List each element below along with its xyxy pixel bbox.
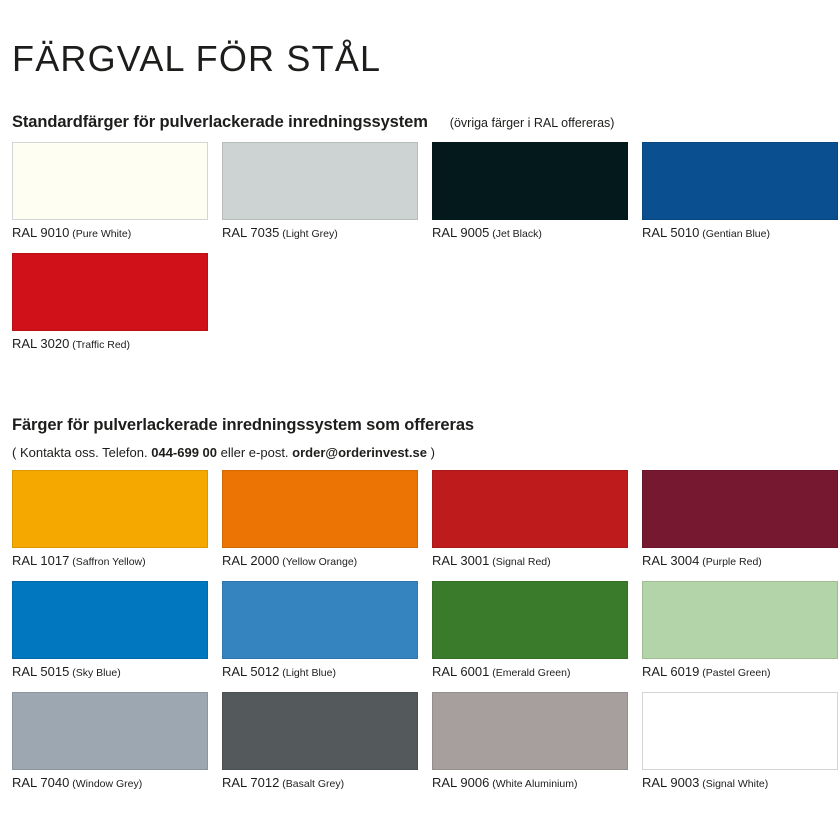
swatch-code: RAL 5012 [222,664,279,679]
swatch-code: RAL 7035 [222,225,279,240]
swatch-cell: RAL 9005 (Jet Black) [432,142,628,241]
section-offered-colors: Färger för pulverlackerade inredningssys… [12,416,828,803]
contact-middle: eller e-post. [217,445,292,460]
swatch-caption: RAL 6001 (Emerald Green) [432,664,628,680]
swatch-caption: RAL 7012 (Basalt Grey) [222,775,418,791]
color-swatch-ral-6019[interactable] [642,581,838,659]
section-offered-title: Färger för pulverlackerade inredningssys… [12,416,474,435]
swatch-cell: RAL 3020 (Traffic Red) [12,253,208,352]
swatch-caption: RAL 5010 (Gentian Blue) [642,225,838,241]
swatch-code: RAL 9005 [432,225,489,240]
swatch-cell: RAL 5015 (Sky Blue) [12,581,208,680]
swatch-name: (Pastel Green) [699,667,770,679]
swatch-name: (Purple Red) [699,556,761,568]
swatch-cell: RAL 1017 (Saffron Yellow) [12,470,208,569]
section-standard-title: Standardfärger för pulverlackerade inred… [12,113,428,132]
color-swatch-ral-5012[interactable] [222,581,418,659]
section-offered-header: Färger för pulverlackerade inredningssys… [12,416,828,435]
swatch-cell: RAL 9003 (Signal White) [642,692,838,791]
swatch-name: (Traffic Red) [69,339,130,351]
swatch-cell: RAL 3004 (Purple Red) [642,470,838,569]
swatch-cell: RAL 7040 (Window Grey) [12,692,208,791]
swatch-code: RAL 9003 [642,775,699,790]
swatch-cell: RAL 6001 (Emerald Green) [432,581,628,680]
offered-swatch-grid: RAL 1017 (Saffron Yellow)RAL 2000 (Yello… [12,470,828,803]
swatch-caption: RAL 3004 (Purple Red) [642,553,838,569]
swatch-caption: RAL 5015 (Sky Blue) [12,664,208,680]
swatch-name: (Saffron Yellow) [69,556,145,568]
swatch-name: (Yellow Orange) [279,556,357,568]
swatch-caption: RAL 7040 (Window Grey) [12,775,208,791]
swatch-caption: RAL 5012 (Light Blue) [222,664,418,680]
contact-open: ( Kontakta oss. Telefon. [12,445,151,460]
swatch-cell: RAL 9010 (Pure White) [12,142,208,241]
color-swatch-ral-5010[interactable] [642,142,838,220]
swatch-cell: RAL 9006 (White Aluminium) [432,692,628,791]
swatch-name: (White Aluminium) [489,778,577,790]
swatch-code: RAL 7040 [12,775,69,790]
swatch-name: (Sky Blue) [69,667,120,679]
swatch-name: (Signal White) [699,778,768,790]
contact-close: ) [427,445,435,460]
color-swatch-ral-1017[interactable] [12,470,208,548]
swatch-name: (Light Grey) [279,228,337,240]
swatch-code: RAL 3020 [12,336,69,351]
swatch-code: RAL 5015 [12,664,69,679]
swatch-cell: RAL 3001 (Signal Red) [432,470,628,569]
swatch-name: (Light Blue) [279,667,336,679]
swatch-name: (Basalt Grey) [279,778,344,790]
swatch-code: RAL 3004 [642,553,699,568]
section-standard-note: (övriga färger i RAL offereras) [450,116,615,130]
section-standard-header: Standardfärger för pulverlackerade inred… [12,113,828,132]
swatch-code: RAL 9006 [432,775,489,790]
swatch-caption: RAL 1017 (Saffron Yellow) [12,553,208,569]
swatch-code: RAL 9010 [12,225,69,240]
color-swatch-ral-5015[interactable] [12,581,208,659]
swatch-cell: RAL 7012 (Basalt Grey) [222,692,418,791]
color-swatch-ral-7040[interactable] [12,692,208,770]
swatch-caption: RAL 9006 (White Aluminium) [432,775,628,791]
color-swatch-ral-9006[interactable] [432,692,628,770]
swatch-caption: RAL 9010 (Pure White) [12,225,208,241]
swatch-name: (Emerald Green) [489,667,570,679]
swatch-cell: RAL 7035 (Light Grey) [222,142,418,241]
color-swatch-ral-7035[interactable] [222,142,418,220]
color-swatch-ral-2000[interactable] [222,470,418,548]
swatch-code: RAL 6019 [642,664,699,679]
swatch-code: RAL 6001 [432,664,489,679]
color-swatch-ral-9010[interactable] [12,142,208,220]
contact-phone[interactable]: 044-699 00 [151,445,217,460]
standard-swatch-grid: RAL 9010 (Pure White)RAL 7035 (Light Gre… [12,142,828,364]
swatch-caption: RAL 3020 (Traffic Red) [12,336,208,352]
section-standard-colors: Standardfärger för pulverlackerade inred… [12,113,828,364]
swatch-code: RAL 3001 [432,553,489,568]
swatch-name: (Window Grey) [69,778,142,790]
swatch-caption: RAL 6019 (Pastel Green) [642,664,838,680]
swatch-name: (Signal Red) [489,556,550,568]
swatch-cell: RAL 2000 (Yellow Orange) [222,470,418,569]
contact-line: ( Kontakta oss. Telefon. 044-699 00 elle… [12,445,828,460]
swatch-cell: RAL 6019 (Pastel Green) [642,581,838,680]
color-swatch-ral-9003[interactable] [642,692,838,770]
color-swatch-ral-6001[interactable] [432,581,628,659]
swatch-cell: RAL 5012 (Light Blue) [222,581,418,680]
swatch-name: (Gentian Blue) [699,228,770,240]
color-swatch-ral-3020[interactable] [12,253,208,331]
contact-email[interactable]: order@orderinvest.se [292,445,427,460]
color-swatch-ral-7012[interactable] [222,692,418,770]
page-title: FÄRGVAL FÖR STÅL [12,0,828,79]
color-swatch-ral-3001[interactable] [432,470,628,548]
swatch-code: RAL 7012 [222,775,279,790]
swatch-caption: RAL 7035 (Light Grey) [222,225,418,241]
color-chart-page: FÄRGVAL FÖR STÅL Standardfärger för pulv… [0,0,840,840]
swatch-name: (Jet Black) [489,228,542,240]
swatch-name: (Pure White) [69,228,131,240]
color-swatch-ral-3004[interactable] [642,470,838,548]
swatch-caption: RAL 9003 (Signal White) [642,775,838,791]
swatch-caption: RAL 3001 (Signal Red) [432,553,628,569]
swatch-cell: RAL 5010 (Gentian Blue) [642,142,838,241]
swatch-code: RAL 5010 [642,225,699,240]
swatch-code: RAL 2000 [222,553,279,568]
swatch-caption: RAL 9005 (Jet Black) [432,225,628,241]
swatch-caption: RAL 2000 (Yellow Orange) [222,553,418,569]
color-swatch-ral-9005[interactable] [432,142,628,220]
swatch-code: RAL 1017 [12,553,69,568]
